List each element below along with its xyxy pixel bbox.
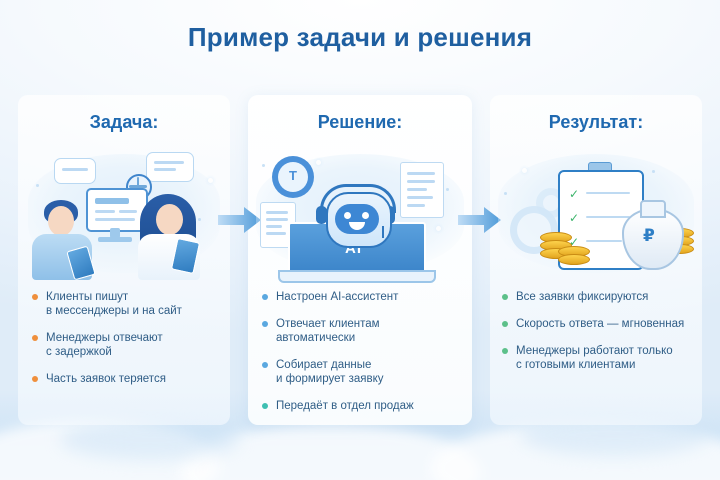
- list-item: Все заявки фиксируются: [502, 290, 700, 304]
- list-item-line: Отвечает клиентам: [276, 317, 462, 331]
- list-item: Часть заявок теряется: [32, 372, 228, 386]
- gear-label: T: [289, 168, 297, 183]
- checkmark-icon: ✓: [569, 212, 579, 224]
- bullet-dot: [262, 362, 268, 368]
- column-heading-solution: Решение:: [248, 112, 472, 133]
- list-item-line: в мессенджеры и на сайт: [46, 304, 228, 318]
- bullet-dot: [32, 294, 38, 300]
- bullet-list-solution: Настроен AI-ассистент Отвечает клиентам …: [262, 290, 462, 426]
- money-bag-neck: [640, 200, 666, 218]
- list-item-line: Клиенты пишут: [46, 290, 228, 304]
- checkmark-icon: ✓: [569, 188, 579, 200]
- list-item-line: автоматически: [276, 331, 462, 345]
- bullet-dot: [502, 294, 508, 300]
- bullet-list-problem: Клиенты пишут в мессенджеры и на сайт Ме…: [32, 290, 228, 399]
- page-title: Пример задачи и решения: [0, 22, 720, 53]
- list-item: Скорость ответа — мгновенная: [502, 317, 700, 331]
- bullet-dot: [262, 321, 268, 327]
- list-item-line: с задержкой: [46, 345, 228, 359]
- monitor-stand: [98, 237, 132, 242]
- robot-icon: [326, 192, 392, 248]
- robot-eye: [344, 212, 351, 219]
- list-item-line: Передаёт в отдел продаж: [276, 399, 462, 413]
- illustration-result: ✓ ✓ ✓ ₽: [492, 148, 700, 283]
- column-heading-problem: Задача:: [18, 112, 230, 133]
- list-item-line: Менеджеры работают только: [516, 344, 700, 358]
- bullet-list-result: Все заявки фиксируются Скорость ответа —…: [502, 290, 700, 385]
- bullet-dot: [262, 294, 268, 300]
- illustration-solution: T AI: [250, 148, 470, 283]
- list-item-line: Собирает данные: [276, 358, 462, 372]
- list-item: Настроен AI-ассистент: [262, 290, 462, 304]
- laptop-base: [278, 270, 436, 283]
- headset-mic-arm: [382, 226, 384, 238]
- list-item: Собирает данные и формирует заявку: [262, 358, 462, 386]
- cloud-shape: [60, 420, 240, 460]
- coin-stack-icon: [558, 254, 590, 265]
- robot-face: [335, 204, 379, 234]
- document-icon: [400, 162, 444, 218]
- monitor-icon: [86, 188, 148, 232]
- list-item-line: Скорость ответа — мгновенная: [516, 317, 700, 331]
- list-item-line: Все заявки фиксируются: [516, 290, 700, 304]
- bullet-dot: [502, 321, 508, 327]
- bullet-dot: [32, 376, 38, 382]
- currency-symbol: ₽: [643, 226, 655, 246]
- list-item-line: с готовыми клиентами: [516, 358, 700, 372]
- list-item: Клиенты пишут в мессенджеры и на сайт: [32, 290, 228, 318]
- chat-bubble-icon: [146, 152, 194, 182]
- bullet-dot: [502, 348, 508, 354]
- list-item: Передаёт в отдел продаж: [262, 399, 462, 413]
- bullet-dot: [32, 335, 38, 341]
- list-item: Отвечает клиентам автоматически: [262, 317, 462, 345]
- list-item-line: и формирует заявку: [276, 372, 462, 386]
- illustration-problem: [22, 148, 226, 283]
- list-item: Менеджеры отвечают с задержкой: [32, 331, 228, 359]
- robot-eye: [362, 212, 369, 219]
- column-heading-result: Результат:: [490, 112, 702, 133]
- robot-mouth: [349, 222, 365, 230]
- list-item-line: Настроен AI-ассистент: [276, 290, 462, 304]
- list-item-line: Часть заявок теряется: [46, 372, 228, 386]
- infographic-canvas: Пример задачи и решения Задача: Решение:…: [0, 0, 720, 480]
- bullet-dot: [262, 403, 268, 409]
- list-item: Менеджеры работают только с готовыми кли…: [502, 344, 700, 372]
- chat-bubble-icon: [54, 158, 96, 184]
- list-item-line: Менеджеры отвечают: [46, 331, 228, 345]
